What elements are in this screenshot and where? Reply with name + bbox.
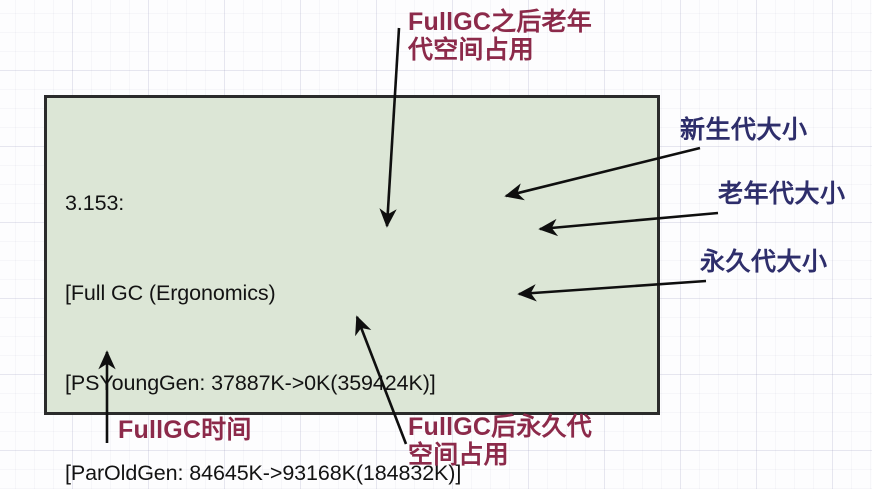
- log-line-young-gen: [PSYoungGen: 37887K->0K(359424K)]: [65, 368, 651, 398]
- annotation-after-fullgc-perm-usage: FullGC后永久代 空间占用: [408, 413, 592, 469]
- annotation-fullgc-time: FullGC时间: [118, 416, 252, 444]
- annotation-perm-gen-size: 永久代大小: [700, 248, 828, 276]
- log-line-timestamp: 3.153:: [65, 188, 651, 218]
- gc-log-box: 3.153: [Full GC (Ergonomics) [PSYoungGen…: [44, 95, 660, 415]
- diagram-canvas: 3.153: [Full GC (Ergonomics) [PSYoungGen…: [0, 0, 872, 489]
- annotation-young-gen-size: 新生代大小: [680, 116, 808, 144]
- annotation-after-fullgc-old-gen-usage: FullGC之后老年 代空间占用: [408, 8, 592, 64]
- annotation-old-gen-size: 老年代大小: [718, 180, 846, 208]
- log-line-fullgc-header: [Full GC (Ergonomics): [65, 278, 651, 308]
